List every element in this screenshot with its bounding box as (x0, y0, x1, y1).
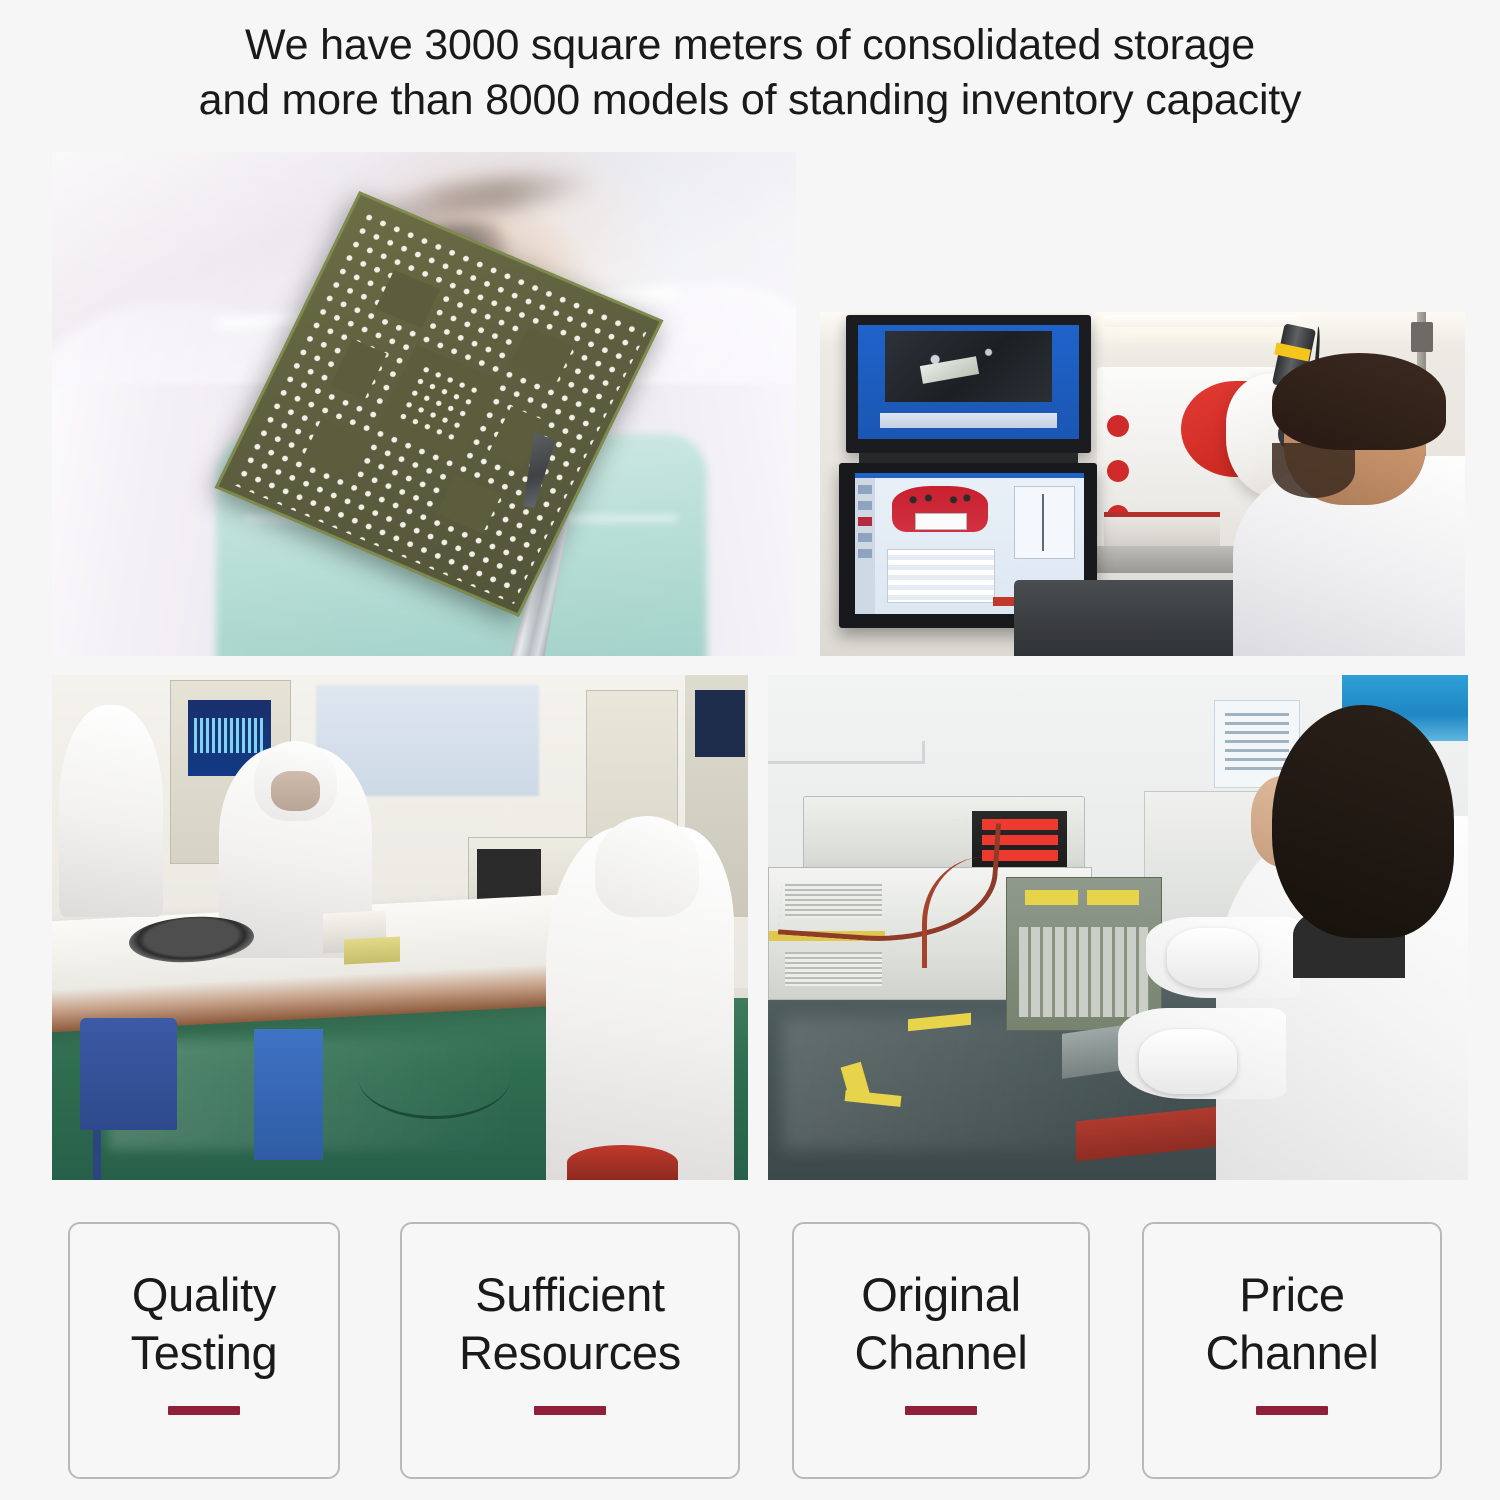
instrument-control-panel (1006, 877, 1162, 1031)
vent-grille (785, 952, 882, 986)
photo-electrical-test-bench (768, 675, 1468, 1180)
component-tray (344, 936, 400, 964)
keypad (1019, 927, 1148, 1018)
floor-cable (358, 1036, 511, 1120)
page-title: We have 3000 square meters of consolidat… (0, 18, 1500, 128)
cleanroom-photo-scene (52, 675, 748, 1180)
feature-card-quality-testing[interactable]: Quality Testing (68, 1222, 340, 1479)
ceiling-lamp (1104, 315, 1298, 327)
feature-card-label: Price Channel (1206, 1266, 1379, 1382)
blue-step-stand (254, 1029, 324, 1160)
microscope-capture-image (885, 331, 1053, 402)
feature-card-accent-bar (534, 1406, 606, 1415)
white-glove (1139, 1029, 1237, 1095)
microscope-photo-scene (820, 312, 1465, 656)
upper-monitor (846, 315, 1091, 453)
photo-microscope-analysis-station (820, 312, 1465, 656)
sample-diagram (892, 486, 988, 532)
cleanroom-worker (59, 705, 163, 917)
technician-hair (1272, 705, 1454, 937)
engineer-beard (1272, 443, 1356, 498)
wall-trim (768, 741, 925, 764)
worker-face (271, 771, 320, 811)
signal-graph (1014, 486, 1076, 558)
feature-card-original-channel[interactable]: Original Channel (792, 1222, 1090, 1479)
measurement-table (887, 549, 995, 602)
feature-card-label: Quality Testing (131, 1266, 278, 1382)
upper-monitor-screen (858, 325, 1079, 439)
sidebar-icon (858, 549, 873, 558)
sidebar-icon (858, 533, 873, 542)
feature-card-accent-bar (1256, 1406, 1328, 1415)
blue-stool (80, 1018, 177, 1129)
yellow-readout (1087, 890, 1139, 905)
red-stool (567, 1145, 678, 1180)
engineer-hair (1272, 353, 1446, 449)
yellow-readout (1025, 890, 1077, 905)
white-glove (1167, 928, 1258, 989)
feature-card-sufficient-resources[interactable]: Sufficient Resources (400, 1222, 740, 1479)
sidebar-icon (858, 501, 873, 510)
feature-card-label: Sufficient Resources (459, 1266, 681, 1382)
testbench-photo-scene (768, 675, 1468, 1180)
feature-card-price-channel[interactable]: Price Channel (1142, 1222, 1442, 1479)
sidebar-icon (858, 485, 873, 494)
chip-photo-scene (52, 152, 796, 656)
feature-card-accent-bar (168, 1406, 240, 1415)
software-sidebar (855, 478, 876, 613)
photo-bga-chip-inspection (52, 152, 796, 656)
worker-hood (595, 816, 699, 917)
pole-clamp (1411, 322, 1433, 352)
software-toolbar (880, 413, 1056, 428)
photo-cleanroom-assembly-line (52, 675, 748, 1180)
feature-card-accent-bar (905, 1406, 977, 1415)
sidebar-icon-active (858, 517, 873, 526)
feature-card-label: Original Channel (855, 1266, 1028, 1382)
red-indicator (1107, 460, 1129, 482)
